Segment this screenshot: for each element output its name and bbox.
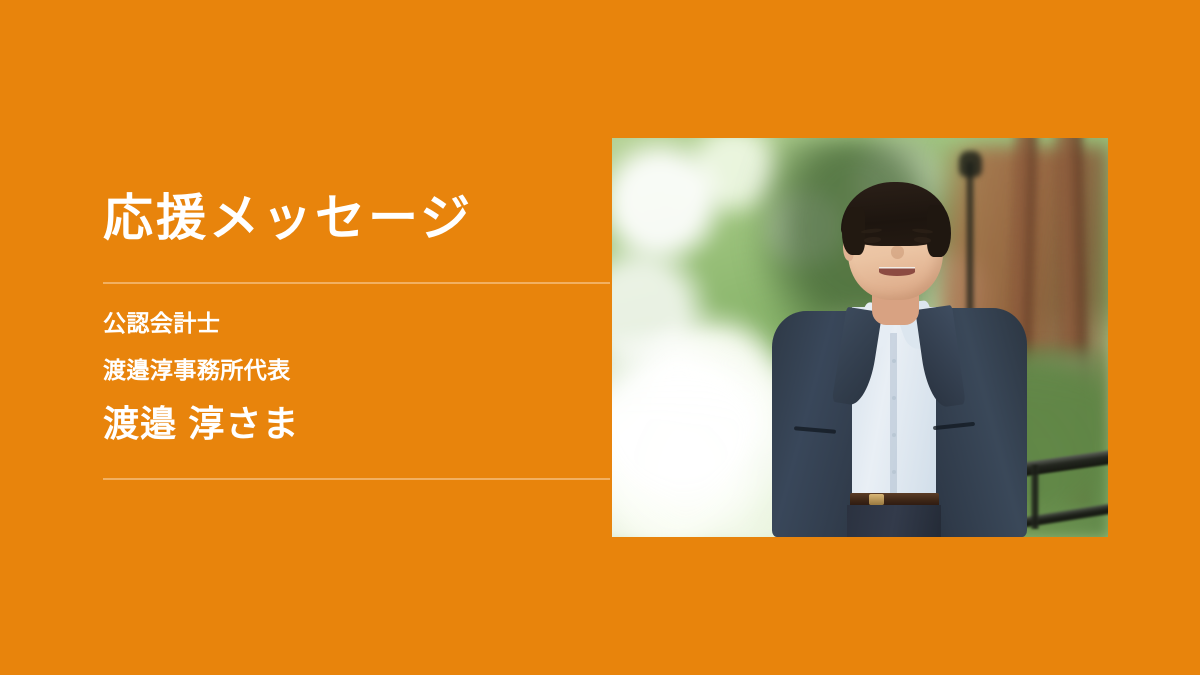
portrait-photo (612, 138, 1108, 537)
shirt-button-3 (892, 433, 896, 437)
person-figure (761, 166, 1039, 537)
shirt-button-1 (892, 359, 896, 363)
shirt-button-2 (892, 396, 896, 400)
title-block: 応援メッセージ (103, 190, 613, 248)
slide-canvas: 応援メッセージ 公認会計士 渡邉淳事務所代表 渡邉 淳さま (0, 0, 1200, 675)
divider-top (103, 282, 610, 284)
divider-bottom (103, 478, 610, 480)
credit-affiliation: 渡邉淳事務所代表 (103, 359, 613, 382)
nose (891, 246, 904, 259)
credit-block: 公認会計士 渡邉淳事務所代表 渡邉 淳さま (103, 312, 613, 442)
photo-scene (612, 138, 1108, 537)
page-title: 応援メッセージ (103, 190, 613, 248)
belt-buckle (869, 494, 884, 505)
smiling-mouth (879, 267, 915, 276)
credit-name: 渡邉 淳さま (103, 406, 613, 442)
credit-qualification: 公認会計士 (103, 312, 613, 335)
trousers (847, 505, 941, 537)
